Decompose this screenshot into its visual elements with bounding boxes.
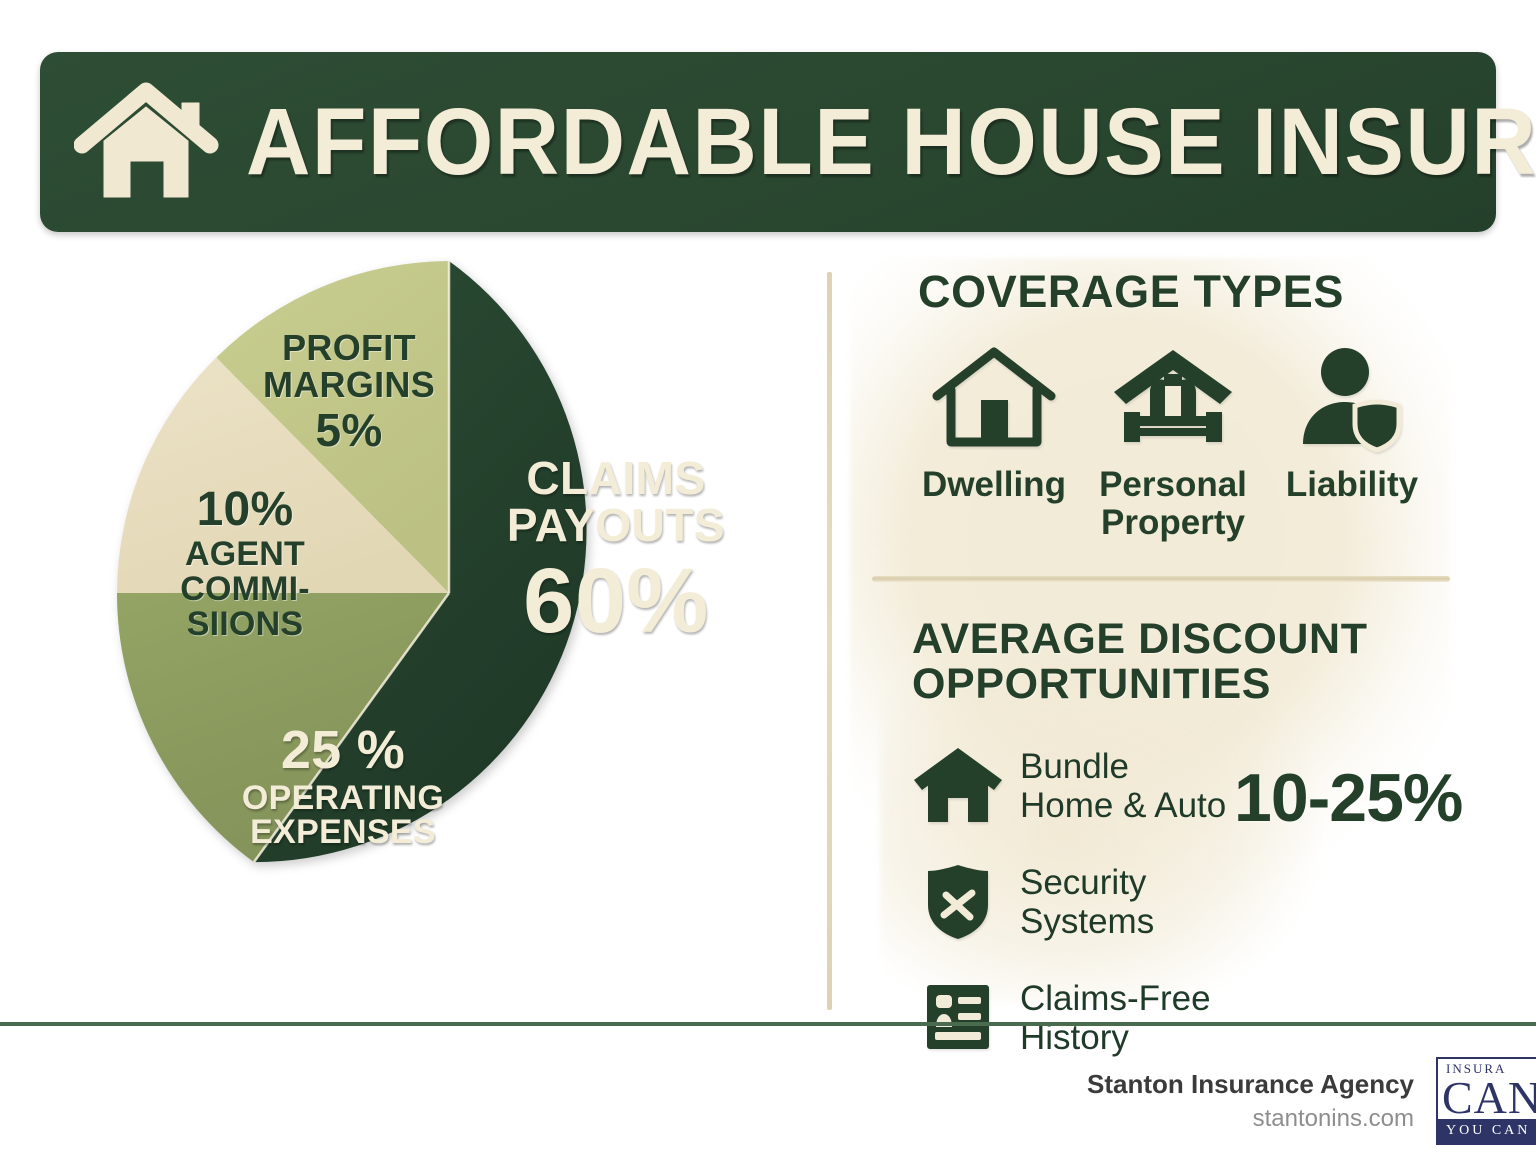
- discount-security-line1: Security: [1020, 863, 1146, 902]
- discount-bundle-line2: Home & Auto: [1020, 786, 1226, 825]
- company-logo: INSURA CAN YOU CAN: [1436, 1057, 1536, 1145]
- discount-bundle-line1: Bundle: [1020, 747, 1129, 786]
- coverage-label-dwelling: Dwelling: [922, 466, 1066, 504]
- infographic-page: AFFORDABLE HOUSE INSURANCE: [0, 0, 1536, 1154]
- discount-heading-line1: AVERAGE DISCOUNT: [912, 615, 1368, 663]
- footer: Stanton Insurance Agency stantonins.com …: [900, 1056, 1536, 1146]
- discount-row-claims-free[interactable]: Claims-Free History: [912, 966, 1472, 1070]
- footer-website[interactable]: stantonins.com: [1087, 1103, 1414, 1134]
- footer-text-block: Stanton Insurance Agency stantonins.com: [1087, 1068, 1414, 1134]
- logo-main-text: CAN: [1442, 1075, 1536, 1121]
- coverage-item-dwelling[interactable]: Dwelling: [908, 344, 1080, 564]
- coverage-types-heading: COVERAGE TYPES: [918, 268, 1344, 315]
- discount-opportunities-heading: AVERAGE DISCOUNT OPPORTUNITIES: [912, 617, 1432, 707]
- discount-security-line2: Systems: [1020, 902, 1154, 941]
- house-outline-icon: [931, 344, 1057, 452]
- discount-heading-line2: OPPORTUNITIES: [912, 660, 1271, 708]
- discount-value-range: 10-25%: [1234, 759, 1462, 837]
- roof-over-sofa-icon: [1110, 344, 1236, 452]
- coverage-label-pp-line2: Property: [1101, 503, 1245, 542]
- header-banner: AFFORDABLE HOUSE INSURANCE: [40, 52, 1496, 232]
- home-icon: [74, 79, 224, 205]
- premium-allocation-pie-chart: CLAIMS PAYOUTS 60% PROFIT MARGINS 5% 10%…: [116, 260, 782, 926]
- house-solid-icon: [912, 744, 1004, 828]
- coverage-types-row: Dwelling Personal Propert: [908, 344, 1438, 564]
- right-panel: COVERAGE TYPES Dwelling: [840, 262, 1488, 1010]
- vertical-divider: [827, 272, 832, 1010]
- coverage-item-personal-property[interactable]: Personal Property: [1087, 344, 1259, 564]
- coverage-item-liability[interactable]: Liability: [1266, 344, 1438, 564]
- person-shield-icon: [1289, 344, 1415, 452]
- page-title: AFFORDABLE HOUSE INSURANCE: [246, 95, 1536, 190]
- discount-row-security[interactable]: Security Systems: [912, 850, 1472, 954]
- company-logo-inner: INSURA CAN YOU CAN: [1436, 1057, 1536, 1145]
- id-card-icon: [924, 979, 992, 1057]
- pie-svg: [116, 260, 782, 926]
- coverage-label-pp-line1: Personal: [1099, 465, 1247, 504]
- discount-label-claims-free: Claims-Free History: [1020, 979, 1211, 1057]
- shield-check-icon: [924, 863, 992, 941]
- discount-label-security: Security Systems: [1020, 863, 1154, 941]
- coverage-label-liability: Liability: [1286, 466, 1418, 504]
- horizontal-divider: [872, 576, 1450, 582]
- footer-divider-rule: [0, 1022, 1536, 1026]
- logo-bottom-text: YOU CAN: [1438, 1119, 1536, 1143]
- coverage-label-personal-property: Personal Property: [1099, 466, 1247, 542]
- discount-label-bundle: Bundle Home & Auto: [1020, 747, 1226, 825]
- discount-claims-line1: Claims-Free: [1020, 979, 1211, 1018]
- footer-agency-name: Stanton Insurance Agency: [1087, 1068, 1414, 1101]
